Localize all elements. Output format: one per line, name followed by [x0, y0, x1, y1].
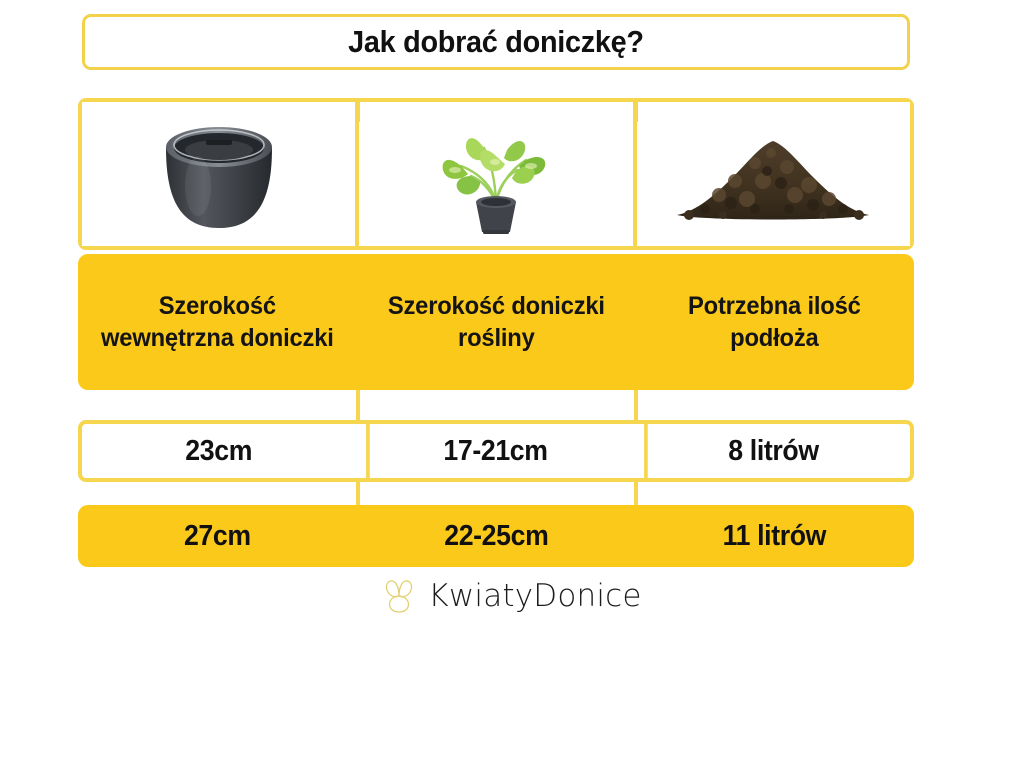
column-divider-tick-4 — [634, 390, 638, 424]
column-divider-tick-5 — [356, 478, 360, 508]
table-header-cell-1: Szerokość wewnętrzna doniczki — [85, 254, 350, 390]
pot-icon — [144, 114, 294, 234]
table-cell-inner-width-2: 27cm — [89, 505, 345, 567]
column-divider-tick-6 — [634, 478, 638, 508]
table-row: 23cm 17-21cm 8 litrów — [78, 420, 914, 482]
table-header-cell-3: Potrzebna ilość podłoża — [642, 254, 907, 390]
table-cell-inner-width-1: 23cm — [93, 424, 344, 478]
table-cell-soil-amount-1: 8 litrów — [644, 424, 899, 478]
column-divider-tick-3 — [356, 390, 360, 424]
brand-logo: KwiatyDonice — [0, 578, 1024, 614]
soil-icon — [663, 119, 883, 229]
brand-logo-text: KwiatyDonice — [428, 578, 641, 614]
table-cell-plant-width-2: 22-25cm — [368, 505, 624, 567]
infographic-root: Jak dobrać doniczkę? — [0, 0, 1024, 768]
column-divider-tick-1 — [356, 98, 360, 122]
image-row — [78, 98, 914, 250]
image-cell-plant — [355, 102, 632, 246]
table-row: 27cm 22-25cm 11 litrów — [78, 505, 914, 567]
trefoil-flower-icon — [382, 578, 416, 614]
column-divider-tick-2 — [634, 98, 638, 122]
plant-icon — [421, 110, 571, 238]
image-cell-pot — [82, 102, 355, 246]
page-title: Jak dobrać doniczkę? — [348, 24, 644, 60]
table-header-row: Szerokość wewnętrzna doniczki Szerokość … — [78, 254, 914, 390]
table-cell-soil-amount-2: 11 litrów — [646, 505, 902, 567]
table-header-cell-2: Szerokość doniczki rośliny — [364, 254, 629, 390]
table-cell-plant-width-1: 17-21cm — [366, 424, 621, 478]
image-cell-soil — [633, 102, 910, 246]
title-box: Jak dobrać doniczkę? — [82, 14, 910, 70]
